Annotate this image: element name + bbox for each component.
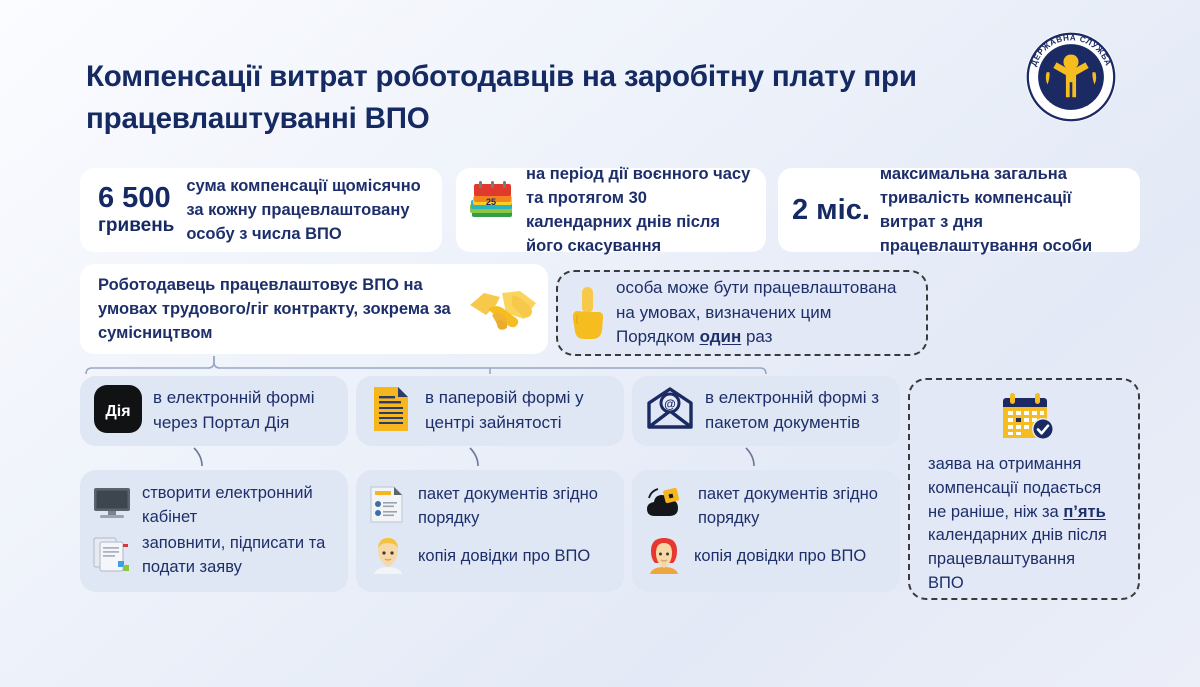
once-line-2: на умовах, визначених цим xyxy=(616,301,896,326)
deadline-emphasis: п’ять xyxy=(1063,503,1105,521)
deadline-line-1: заява на отримання xyxy=(928,453,1124,477)
once-line-3: Порядком один раз xyxy=(616,325,896,350)
amount-value-block: 6 500 гривень xyxy=(98,182,174,237)
documents-stack-icon xyxy=(92,534,132,579)
once-emphasis: один xyxy=(700,327,742,346)
monitor-icon xyxy=(92,486,132,527)
detail-text: створити електронний кабінет xyxy=(142,482,340,530)
list-item: пакет документів згідно порядку xyxy=(644,483,892,531)
deadline-line-6: ВПО xyxy=(928,572,1124,596)
amount-unit: гривень xyxy=(98,215,174,238)
detail-text: пакет документів згідно порядку xyxy=(418,483,616,531)
detail-text: копія довідки про ВПО xyxy=(418,545,590,569)
card-method-diia[interactable]: Дія в електронній формі через Портал Дія xyxy=(80,376,348,446)
diia-logo-label: Дія xyxy=(105,403,130,420)
detail-text: копія довідки про ВПО xyxy=(694,545,866,569)
state-employment-service-logo: ДЕРЖАВНА СЛУЖБА ЗАЙНЯТОСТІ xyxy=(1024,30,1118,124)
deadline-line-5: працевлаштування xyxy=(928,548,1124,572)
amount-description: сума компенсації щомісячно за кожну прац… xyxy=(186,174,426,247)
card-max-duration: 2 міс. максимальна загальна тривалість к… xyxy=(778,168,1140,252)
card-details-email: пакет документів згідно порядку копія до… xyxy=(632,470,900,592)
card-details-diia: створити електронний кабінет заповнити, … xyxy=(80,470,348,592)
document-with-people-icon xyxy=(368,484,408,529)
card-once-only: особа може бути працевлаштована на умова… xyxy=(556,270,928,356)
calendar-check-icon xyxy=(995,392,1057,449)
paper-document-icon xyxy=(370,384,414,439)
method-diia-label: в електронній формі через Портал Дія xyxy=(153,386,338,435)
once-line-1: особа може бути працевлаштована xyxy=(616,276,896,301)
card-details-paper: пакет документів згідно порядку копія до… xyxy=(356,470,624,592)
cloud-upload-icon xyxy=(644,484,688,529)
email-envelope-icon: @ xyxy=(646,387,694,436)
person-blond-icon xyxy=(368,534,408,579)
deadline-line-2: компенсації подається xyxy=(928,477,1124,501)
page-title: Компенсації витрат роботодавців на зароб… xyxy=(86,56,946,140)
diia-logo-icon: Дія xyxy=(94,385,142,438)
duration-value: 2 міс. xyxy=(792,194,870,226)
period-description: на період дії воєнного часу та протягом … xyxy=(526,162,752,259)
list-item: пакет документів згідно порядку xyxy=(368,483,616,531)
detail-text: пакет документів згідно порядку xyxy=(698,483,892,531)
method-email-label: в електронній формі з пакетом документів xyxy=(705,386,890,435)
list-item: створити електронний кабінет xyxy=(92,482,340,530)
svg-text:25: 25 xyxy=(486,197,496,207)
person-redhair-icon xyxy=(644,534,684,579)
method-paper-label: в паперовій формі у центрі зайнятості xyxy=(425,386,614,435)
employer-description: Роботодавець працевлаштовує ВПО на умова… xyxy=(98,273,460,346)
detail-text: заповнити, підписати та подати заяву xyxy=(142,532,340,580)
deadline-line-3: не раніше, ніж за п’ять xyxy=(928,501,1124,525)
list-item: копія довідки про ВПО xyxy=(368,534,616,579)
list-item: заповнити, підписати та подати заяву xyxy=(92,532,340,580)
index-finger-up-icon xyxy=(566,281,610,346)
once-text-block: особа може бути працевлаштована на умова… xyxy=(616,276,896,350)
card-application-deadline: заява на отримання компенсації подається… xyxy=(908,378,1140,600)
card-method-email[interactable]: @ в електронній формі з пакетом документ… xyxy=(632,376,900,446)
deadline-line-4: календарних днів після xyxy=(928,524,1124,548)
card-compensation-amount: 6 500 гривень сума компенсації щомісячно… xyxy=(80,168,442,252)
tear-off-calendar-icon: 25 xyxy=(466,180,518,241)
card-method-paper[interactable]: в паперовій формі у центрі зайнятості xyxy=(356,376,624,446)
amount-value: 6 500 xyxy=(98,182,174,214)
card-period: 25 на період дії воєнного часу та протяг… xyxy=(456,168,766,252)
duration-description: максимальна загальна тривалість компенса… xyxy=(880,162,1128,259)
email-at-symbol: @ xyxy=(664,397,676,411)
list-item: копія довідки про ВПО xyxy=(644,534,892,579)
card-employer-conditions: Роботодавець працевлаштовує ВПО на умова… xyxy=(80,264,548,354)
handshake-icon xyxy=(466,275,540,344)
